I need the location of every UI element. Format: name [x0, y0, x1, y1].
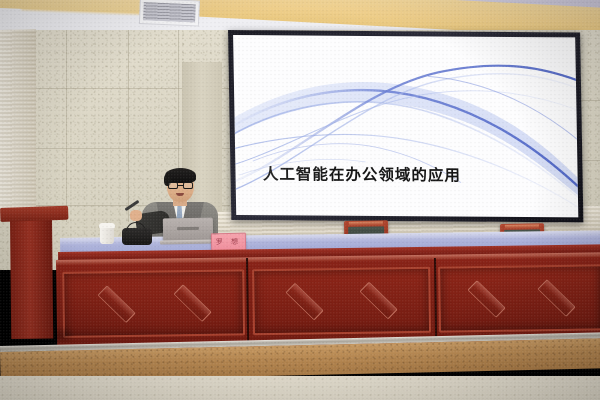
desk-diamond-carving [286, 283, 324, 321]
cup-lid [99, 223, 115, 228]
wall-seam [128, 30, 129, 222]
speaker-hand [130, 210, 142, 221]
desk-panel [62, 269, 245, 338]
desk-diamond-carving [174, 284, 212, 322]
nameplate-text: 罗 想 [216, 237, 241, 248]
conference-room-photo: 人工智能在办公领域的应用 [0, 0, 600, 400]
desk-diamond-carving [537, 279, 575, 317]
glasses-icon [168, 182, 193, 189]
glasses-lens-right [183, 182, 193, 189]
wall-seam [66, 30, 67, 222]
screen-face: 人工智能在办公领域的应用 [233, 35, 578, 217]
louver-panel-left [0, 29, 36, 220]
desk-diamond-carving [467, 280, 505, 318]
vent-grille [143, 2, 196, 22]
slide-ribbon-graphic [233, 35, 578, 217]
bag[interactable] [122, 228, 152, 245]
cup[interactable] [100, 226, 114, 244]
led-screen[interactable]: 人工智能在办公领域的应用 [228, 30, 583, 222]
podium-body [10, 219, 53, 339]
ceiling-vent-icon [139, 0, 200, 26]
desk-diamond-carving [98, 285, 136, 323]
speaker-hair [165, 168, 196, 183]
wall-seam [580, 100, 600, 101]
desk-panel [438, 264, 600, 332]
wall-seam [580, 160, 600, 161]
desk-diamond-carving [360, 282, 398, 320]
glasses-lens-left [168, 182, 178, 189]
slide-title: 人工智能在办公领域的应用 [263, 163, 461, 186]
podium-top[interactable] [0, 206, 68, 222]
floor [0, 376, 600, 400]
desk-panel [252, 267, 431, 335]
floor-texture [0, 376, 600, 400]
